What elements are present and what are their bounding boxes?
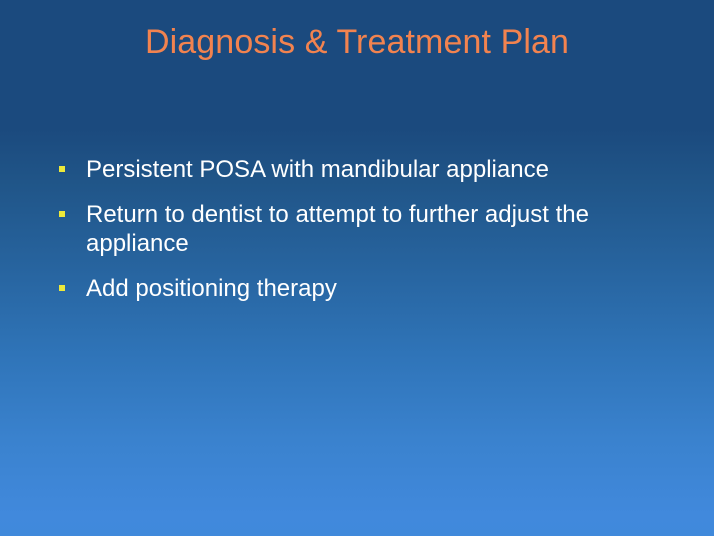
slide-title-container: Diagnosis & Treatment Plan (0, 22, 714, 62)
list-item-label: Return to dentist to attempt to further … (86, 200, 602, 258)
bullet-point-icon (52, 200, 86, 217)
page-title: Diagnosis & Treatment Plan (145, 22, 569, 62)
bullet-point-icon (52, 155, 86, 172)
bullet-point-icon (52, 274, 86, 291)
presentation-slide: Diagnosis & Treatment Plan Persistent PO… (0, 0, 714, 536)
list-item: Return to dentist to attempt to further … (52, 200, 652, 258)
list-item: Add positioning therapy (52, 274, 652, 303)
list-item: Persistent POSA with mandibular applianc… (52, 155, 652, 184)
list-item-label: Add positioning therapy (86, 274, 602, 303)
bullet-list: Persistent POSA with mandibular applianc… (52, 155, 652, 303)
list-item-label: Persistent POSA with mandibular applianc… (86, 155, 602, 184)
